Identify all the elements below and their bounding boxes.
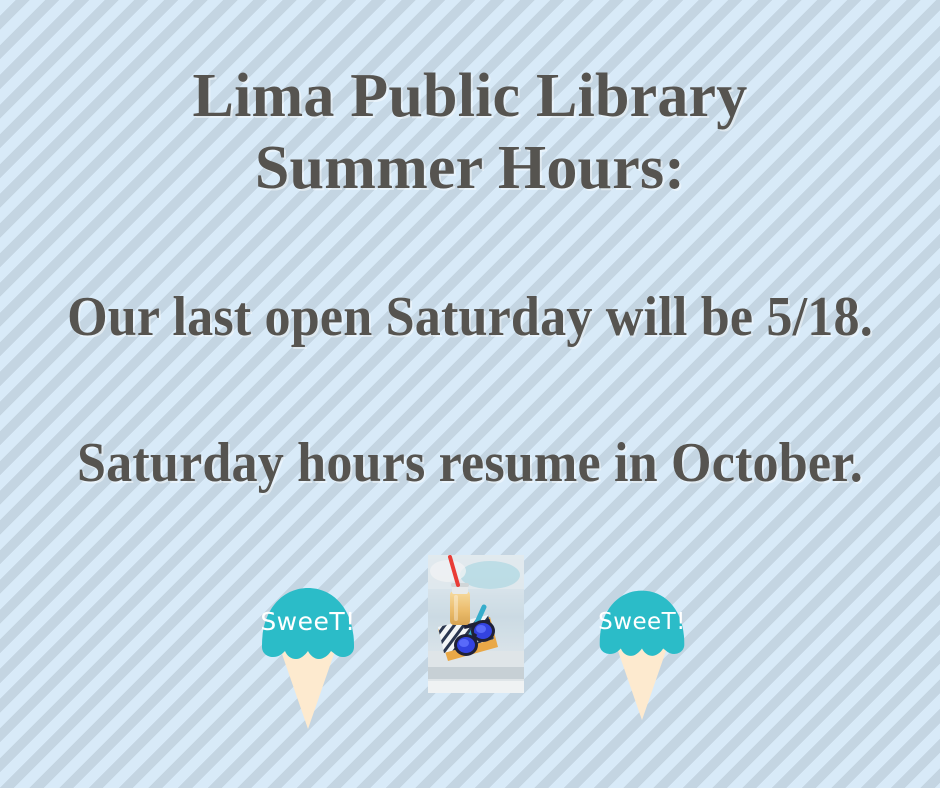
- cone-shape-icon: [617, 648, 667, 720]
- summer-smoothie-photo: [428, 555, 524, 693]
- cone-shape-icon: [281, 651, 335, 729]
- page-title-line-1: Lima Public Library: [0, 60, 940, 132]
- page-title-line-2: Summer Hours:: [0, 132, 940, 204]
- poster-canvas: Lima Public Library Summer Hours: Our la…: [0, 0, 940, 788]
- body-text-line-1: Our last open Saturday will be 5/18.: [33, 286, 907, 348]
- cone-sweet-label: SweeT!: [260, 607, 355, 636]
- body-text-line-2: Saturday hours resume in October.: [33, 432, 907, 494]
- ice-cream-cone-right: SweeT!: [596, 586, 688, 722]
- cone-sweet-label: SweeT!: [598, 609, 686, 635]
- ice-cream-cone-left: SweeT!: [258, 583, 358, 731]
